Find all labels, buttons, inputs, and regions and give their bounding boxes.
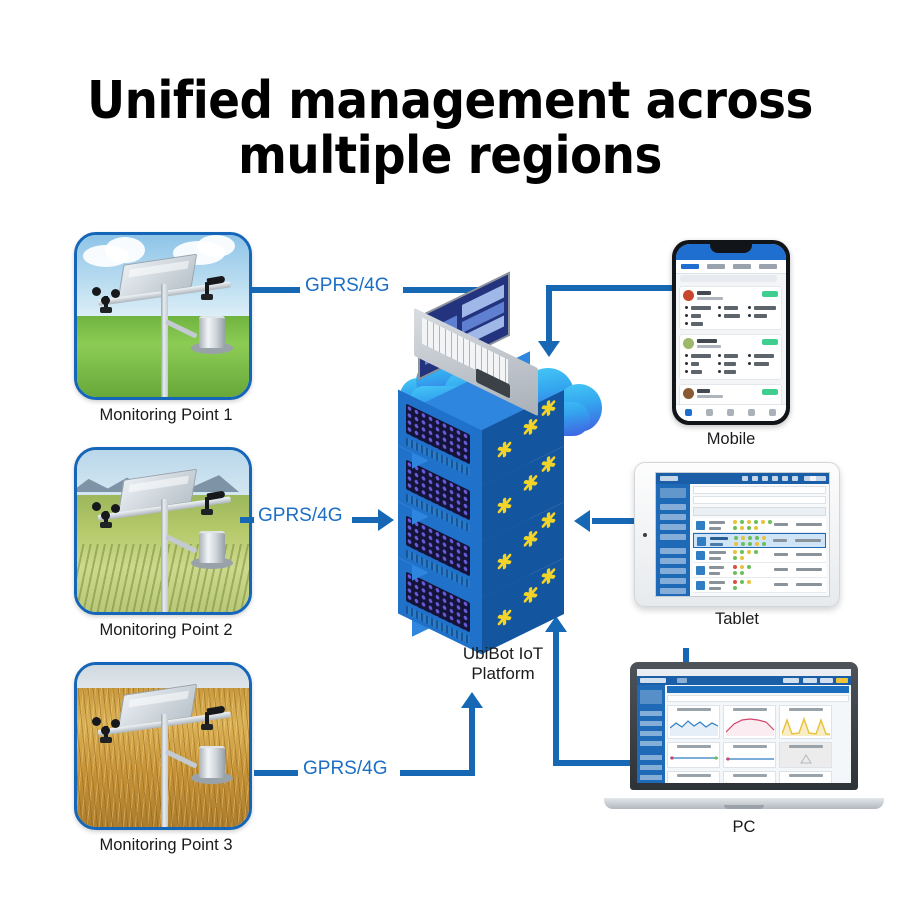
- tablet-table-row[interactable]: [693, 563, 826, 578]
- pc-chart-bars-yellow[interactable]: [779, 705, 832, 739]
- tablet-camera-icon: [643, 533, 647, 537]
- tablet-top-nav[interactable]: [656, 473, 829, 484]
- monitoring-point-2-label: Monitoring Point 2: [66, 621, 266, 640]
- platform-label-line-1: UbiBot IoT: [463, 644, 543, 663]
- pc-trackpad-notch: [724, 805, 764, 809]
- asterisk-icon: [496, 605, 513, 630]
- tablet-toolbar[interactable]: [693, 486, 826, 494]
- tablet-table-row[interactable]: [693, 518, 826, 533]
- tablet-table-row[interactable]: [693, 578, 826, 593]
- mobile-search-field[interactable]: [680, 275, 777, 282]
- tablet-dashboard-screen: [655, 472, 830, 597]
- link-label-gprs-4g-3: GPRS/4G: [303, 758, 387, 780]
- pc-chart-text-panel[interactable]: [779, 771, 832, 783]
- mobile-device[interactable]: [672, 240, 790, 425]
- pc-chart-line-green[interactable]: [723, 771, 776, 783]
- pc-label: PC: [604, 818, 884, 837]
- page-title: Unified management across multiple regio…: [0, 74, 900, 184]
- pc-chart-empty[interactable]: [779, 742, 832, 768]
- rain-gauge-icon: [197, 746, 227, 784]
- asterisk-icon: [496, 549, 513, 574]
- pc-top-nav[interactable]: [637, 676, 851, 685]
- weather-station-apparatus: [77, 235, 249, 397]
- platform-label: UbiBot IoT Platform: [362, 644, 644, 684]
- pc-chart-line-red[interactable]: [723, 705, 776, 739]
- tablet-label: Tablet: [634, 610, 840, 629]
- mobile-device-card[interactable]: [679, 286, 782, 330]
- link-label-gprs-4g-2: GPRS/4G: [258, 505, 342, 527]
- pc-toolbar[interactable]: [667, 695, 849, 702]
- arrowhead-right-2: [378, 509, 394, 531]
- mobile-app-screen: [676, 244, 786, 421]
- platform-label-line-2: Platform: [471, 664, 534, 683]
- monitoring-point-3-image: [74, 662, 252, 830]
- monitoring-point-2-image: [74, 447, 252, 615]
- pc-breadcrumb-bar[interactable]: [667, 686, 849, 693]
- pc-dashboard-screen: [637, 669, 851, 783]
- monitoring-point-3-card[interactable]: Monitoring Point 3: [74, 662, 252, 830]
- tablet-content-area: [690, 484, 829, 596]
- anemometer-icon: [92, 502, 122, 528]
- wind-vane-icon: [199, 277, 225, 286]
- pc-content-area: [665, 685, 851, 783]
- weather-station-apparatus: [77, 665, 249, 827]
- monitoring-point-1-label: Monitoring Point 1: [66, 406, 266, 425]
- pc-device[interactable]: [604, 662, 884, 817]
- tablet-device[interactable]: [634, 462, 840, 607]
- pc-chart-flat-2[interactable]: [723, 742, 776, 768]
- asterisk-icon: [522, 414, 539, 439]
- anemometer-icon: [92, 717, 122, 743]
- asterisk-icon: [496, 437, 513, 462]
- wind-vane-icon: [199, 492, 225, 501]
- pc-chart-flat-1[interactable]: [667, 742, 720, 768]
- pc-chart-step[interactable]: [667, 771, 720, 783]
- monitoring-point-3-label: Monitoring Point 3: [66, 836, 266, 855]
- tablet-table-row-selected[interactable]: [693, 533, 826, 548]
- pc-chart-line-blue[interactable]: [667, 705, 720, 739]
- title-line-1: Unified management across: [0, 74, 900, 129]
- rain-gauge-icon: [197, 316, 227, 354]
- diagram-canvas: Unified management across multiple regio…: [0, 0, 900, 900]
- platform-laptop-icon: [412, 294, 562, 404]
- pc-sidebar[interactable]: [637, 685, 665, 783]
- title-line-2: multiple regions: [0, 129, 900, 184]
- rain-gauge-icon: [197, 531, 227, 569]
- asterisk-icon: [496, 493, 513, 518]
- mobile-bottom-nav[interactable]: [676, 404, 786, 421]
- anemometer-icon: [92, 287, 122, 313]
- wind-vane-icon: [199, 707, 225, 716]
- tablet-table-row[interactable]: [693, 548, 826, 563]
- tablet-sidebar[interactable]: [656, 484, 690, 596]
- mobile-tab-bar[interactable]: [676, 260, 786, 274]
- tablet-table-header: [693, 507, 826, 516]
- arrowhead-up-3: [461, 692, 483, 708]
- mobile-label: Mobile: [672, 430, 790, 449]
- ubibot-iot-platform[interactable]: UbiBot IoT Platform: [398, 352, 608, 682]
- weather-station-apparatus: [77, 450, 249, 612]
- monitoring-point-2-card[interactable]: Monitoring Point 2: [74, 447, 252, 615]
- mobile-device-card[interactable]: [679, 334, 782, 380]
- phone-notch: [710, 244, 752, 253]
- tablet-pagination[interactable]: [693, 596, 826, 597]
- link-label-gprs-4g-1: GPRS/4G: [305, 275, 389, 297]
- monitoring-point-1-card[interactable]: Monitoring Point 1: [74, 232, 252, 400]
- tablet-filter-bar[interactable]: [693, 496, 826, 504]
- monitoring-point-1-image: [74, 232, 252, 400]
